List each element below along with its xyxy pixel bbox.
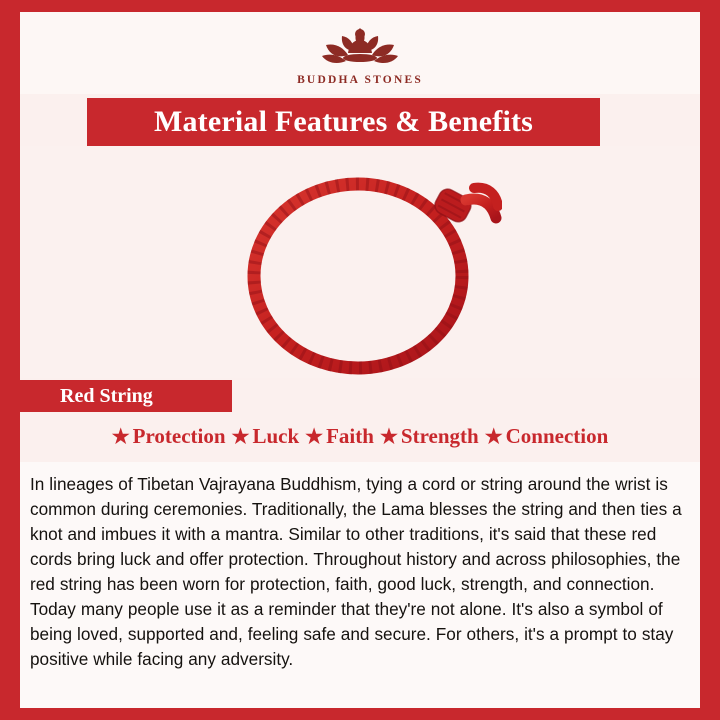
benefit-label: Protection [133, 424, 226, 449]
benefits-list: ★ Protection ★ Luck ★ Faith ★ Strength ★… [20, 424, 700, 449]
star-icon: ★ [380, 427, 398, 447]
frame-border-bottom [0, 708, 720, 720]
star-icon: ★ [305, 427, 323, 447]
benefit-item-connection: ★ Connection [482, 424, 612, 449]
description-text: In lineages of Tibetan Vajrayana Buddhis… [30, 472, 688, 672]
star-icon: ★ [112, 427, 130, 447]
brand-logo: BUDDHA STONES [20, 20, 700, 86]
description-block: In lineages of Tibetan Vajrayana Buddhis… [20, 462, 700, 708]
benefit-label: Luck [252, 424, 299, 449]
frame-border-top [0, 0, 720, 12]
frame-border-right [700, 0, 720, 720]
benefit-item-luck: ★ Luck [229, 424, 303, 449]
benefit-label: Faith [326, 424, 374, 449]
infographic-page: BUDDHA STONES Material Features & Benefi… [0, 0, 720, 720]
product-label: Red String [60, 385, 153, 408]
lotus-meditation-figure-icon [317, 20, 403, 72]
product-label-ribbon: Red String [20, 380, 232, 412]
benefit-label: Connection [506, 424, 609, 449]
section-title-bar: Material Features & Benefits [87, 98, 600, 146]
benefit-item-faith: ★ Faith [302, 424, 377, 449]
brand-name: BUDDHA STONES [20, 74, 700, 86]
benefit-item-protection: ★ Protection [109, 424, 229, 449]
product-image-area [20, 146, 700, 378]
star-icon: ★ [485, 427, 503, 447]
red-string-bracelet-image [230, 166, 502, 376]
benefit-label: Strength [401, 424, 479, 449]
frame-border-left [0, 0, 20, 720]
page-title: Material Features & Benefits [154, 105, 533, 139]
star-icon: ★ [232, 427, 250, 447]
benefit-item-strength: ★ Strength [377, 424, 482, 449]
content-canvas: BUDDHA STONES Material Features & Benefi… [20, 12, 700, 708]
